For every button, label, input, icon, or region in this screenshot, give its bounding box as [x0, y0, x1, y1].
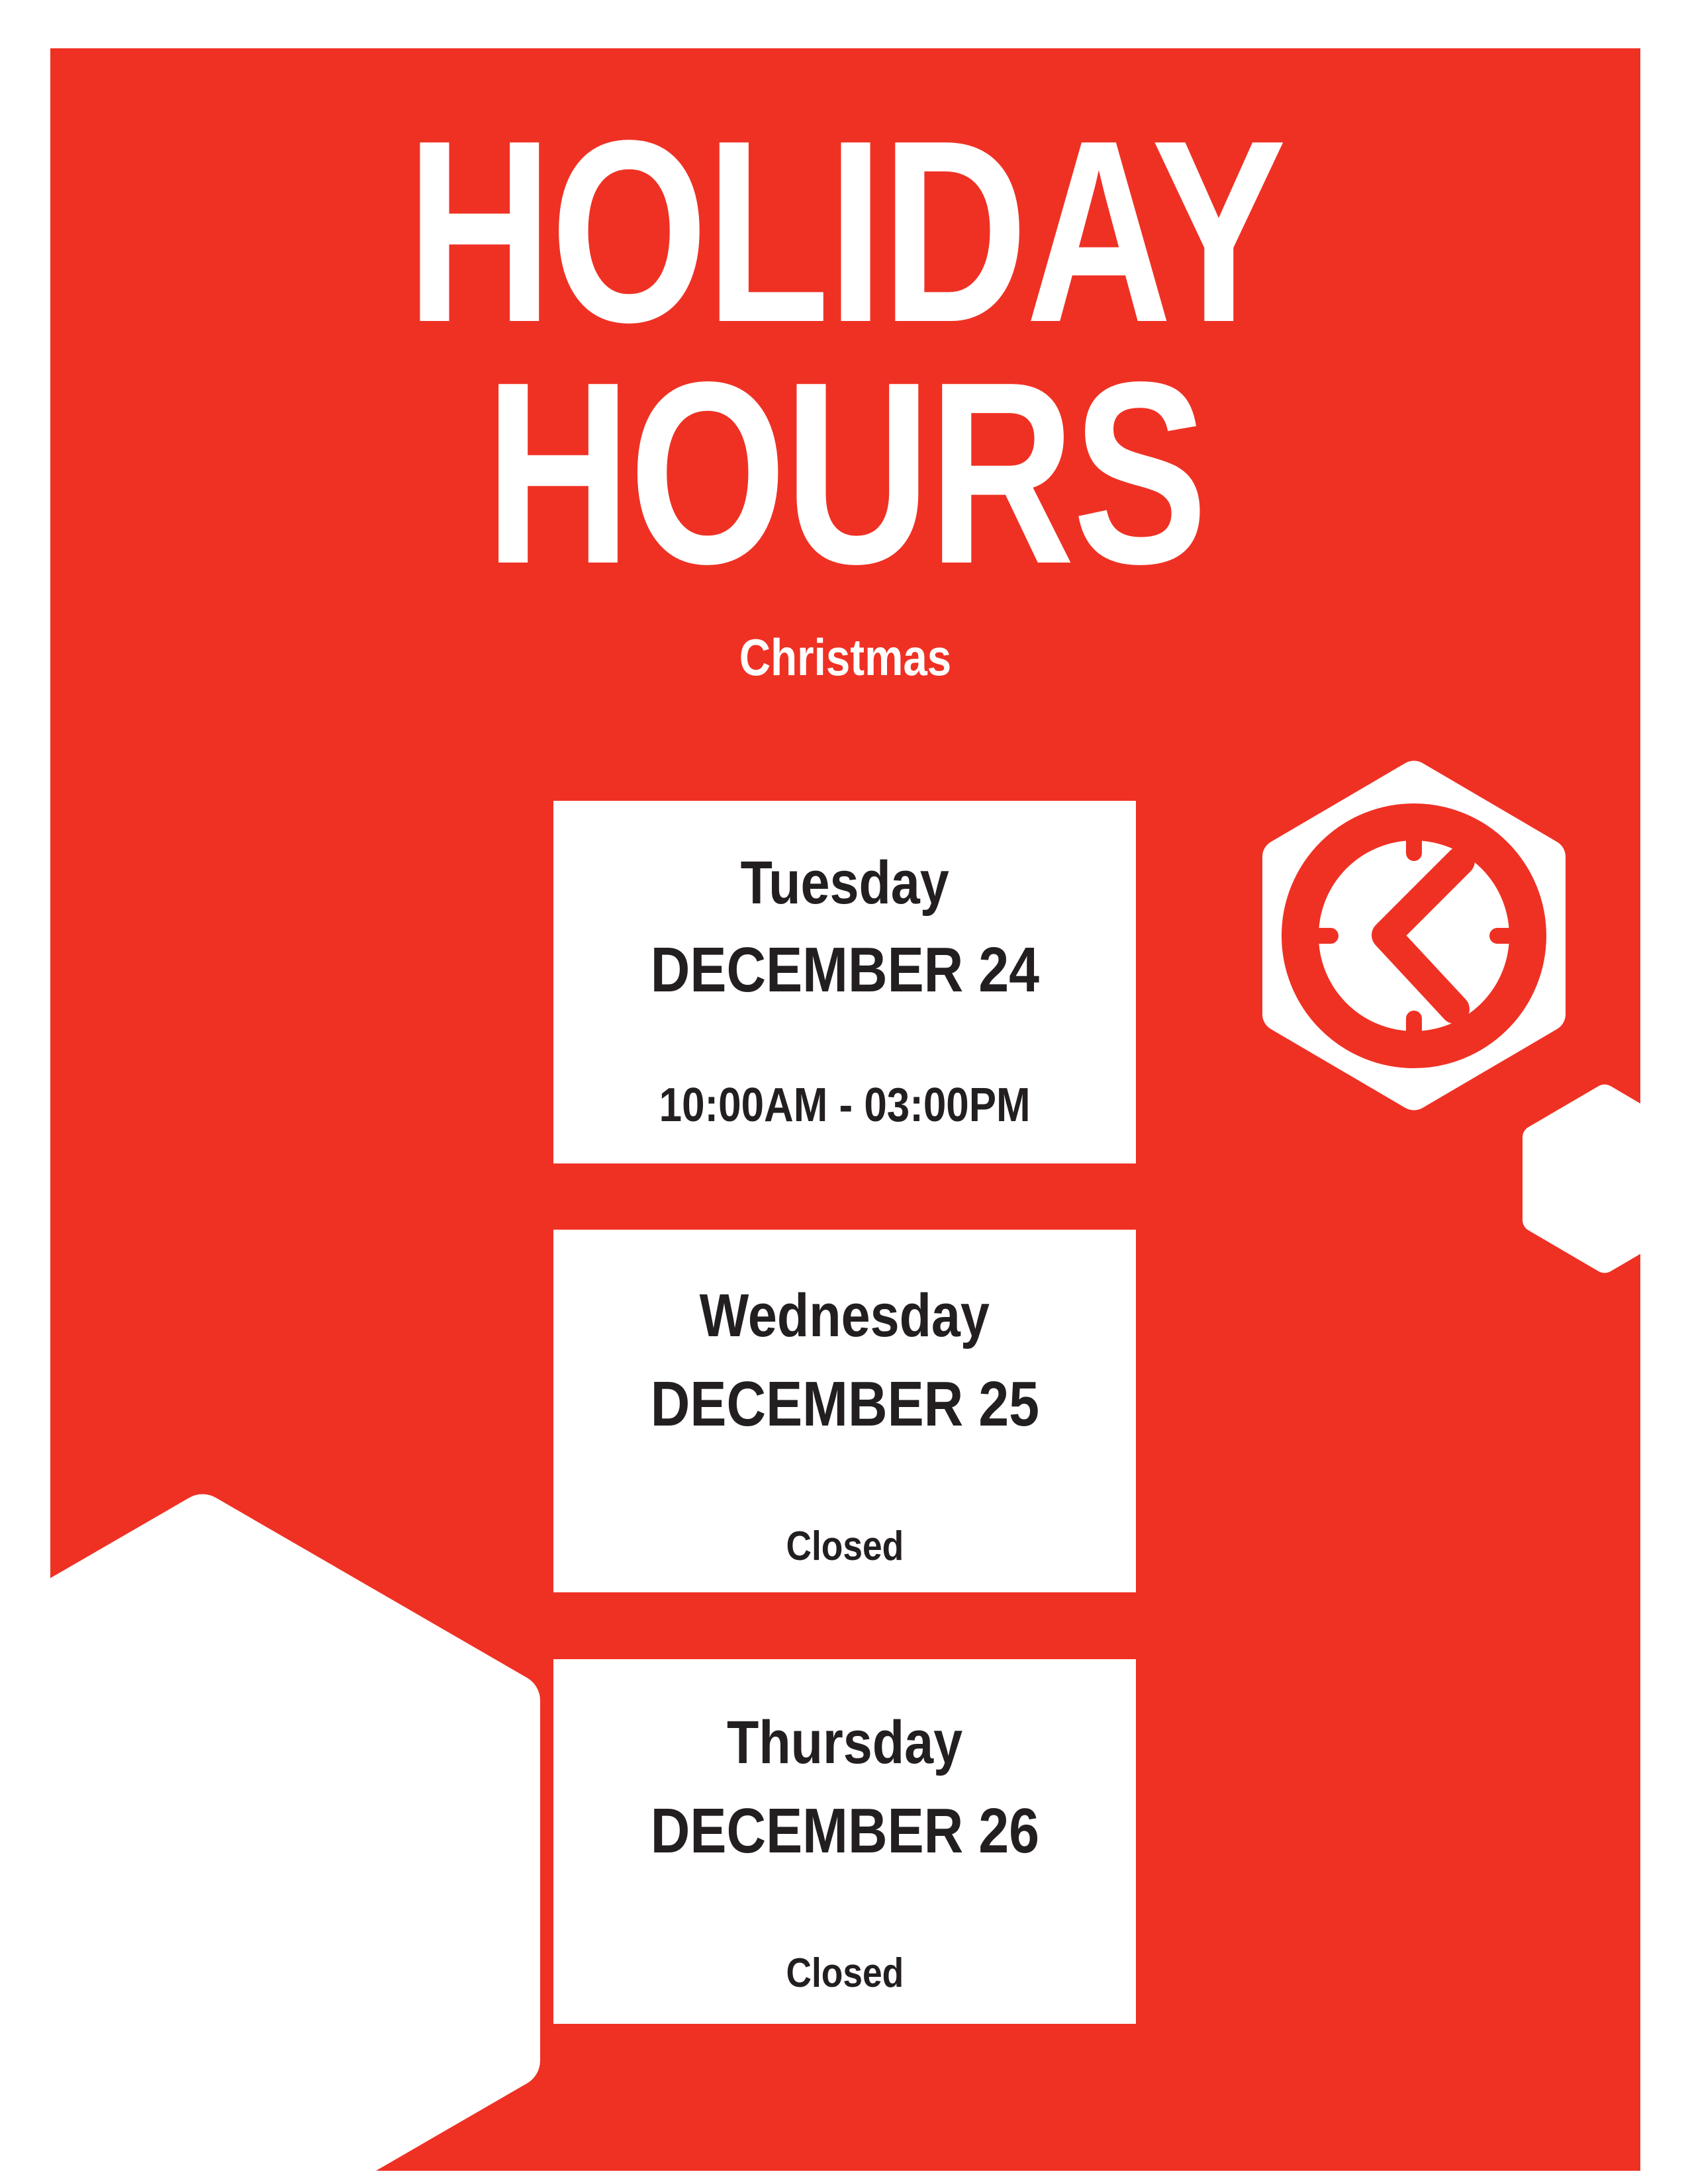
page-title-line-2: HOURS — [225, 359, 1466, 588]
clock-tick-9 — [1301, 928, 1338, 944]
clock-tick-3 — [1489, 928, 1526, 944]
schedule-card[interactable]: Tuesday DECEMBER 24 10:00AM - 03:00PM — [553, 801, 1136, 1163]
schedule-day-hours: Closed — [786, 1953, 904, 1994]
page-subtitle: Christmas — [177, 627, 1513, 688]
schedule-day-name: Tuesday — [740, 852, 949, 913]
schedule-day-date: DECEMBER 24 — [650, 938, 1039, 1002]
schedule-day-date: DECEMBER 26 — [650, 1799, 1039, 1863]
clock-tick-6 — [1406, 1011, 1422, 1048]
schedule-day-hours: 10:00AM - 03:00PM — [659, 1081, 1031, 1129]
schedule-card[interactable]: Wednesday DECEMBER 25 Closed — [553, 1230, 1136, 1592]
hexagon-shape-small — [1503, 1081, 1640, 1286]
poster-canvas: HOLIDAY HOURS Christmas — [0, 0, 1688, 2184]
page-title-line-1: HOLIDAY — [225, 118, 1466, 346]
schedule-day-date: DECEMBER 25 — [650, 1373, 1039, 1436]
schedule-day-name: Wednesday — [700, 1285, 990, 1346]
schedule-day-name: Thursday — [727, 1712, 962, 1773]
schedule-card[interactable]: Thursday DECEMBER 26 Closed — [553, 1659, 1136, 2024]
hexagon-shape-bottom-left — [50, 1438, 567, 2171]
poster-background-panel: HOLIDAY HOURS Christmas — [50, 48, 1640, 2171]
clock-tick-12 — [1406, 824, 1422, 861]
schedule-day-hours: Closed — [786, 1526, 904, 1567]
